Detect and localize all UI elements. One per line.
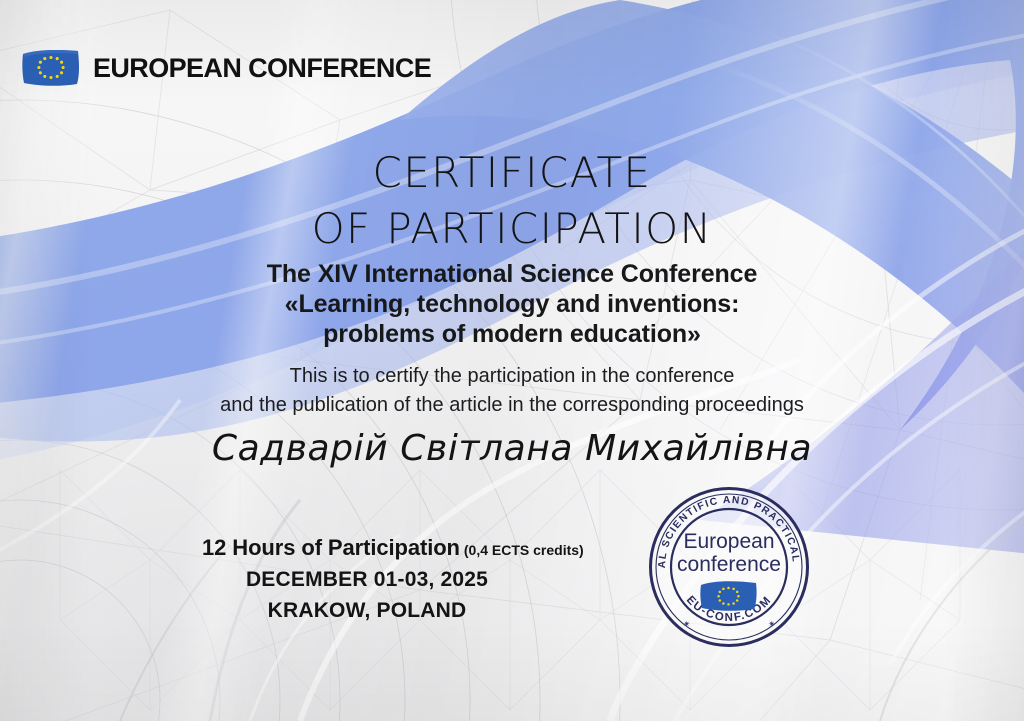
title-line-2: OF PARTICIPATION [0,201,1024,257]
conference-line-1: The XIV International Science Conference [0,259,1024,289]
brand-header: EUROPEAN CONFERENCE [20,47,431,89]
seal-eu-flag-icon [700,581,756,611]
recipient-name: Садварій Світлана Михайлівна [0,428,1024,469]
certify-line-2: and the publication of the article in th… [0,391,1024,420]
date-row: DECEMBER 01-03, 2025 [202,565,622,596]
date-label: DECEMBER 01-03, 2025 [246,568,488,591]
conference-seal: INTERNATIONAL SCIENTIFIC AND PRACTICAL C… [648,486,810,648]
certify-line-1: This is to certify the participation in … [0,362,1024,391]
conference-line-2: «Learning, technology and inventions: [0,289,1024,319]
hours-label: 12 Hours of Participation [202,535,460,560]
page-title: CERTIFICATE OF PARTICIPATION [0,145,1024,257]
conference-line-3: problems of modern education» [0,319,1024,349]
seal-star-left-icon: ✴ [683,620,691,630]
place-row: KRAKOW, POLAND [202,596,622,627]
eu-flag-icon [20,47,82,89]
place-label: KRAKOW, POLAND [268,599,467,622]
seal-star-right-icon: ✴ [768,620,776,630]
title-line-1: CERTIFICATE [0,145,1024,201]
certify-statement: This is to certify the participation in … [0,362,1024,420]
seal-center-line-1: European [683,530,774,553]
conference-title: The XIV International Science Conference… [0,259,1024,349]
brand-name: EUROPEAN CONFERENCE [93,53,431,84]
hours-row: 12 Hours of Participation(0,4 ECTS credi… [202,533,622,565]
seal-center-line-2: conference [677,553,781,576]
participation-details: 12 Hours of Participation(0,4 ECTS credi… [202,533,622,627]
certificate-page: EUROPEAN CONFERENCE CERTIFICATE OF PARTI… [0,0,1024,721]
ects-label: (0,4 ECTS credits) [464,542,584,558]
